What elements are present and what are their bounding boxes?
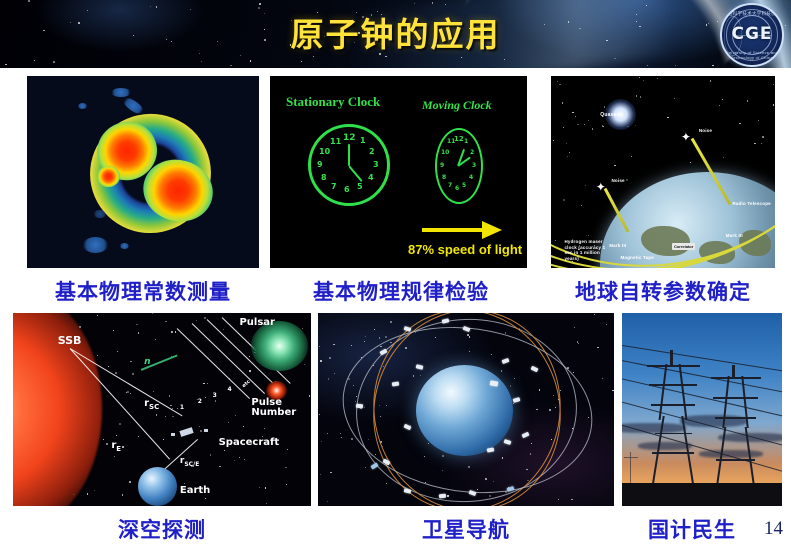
background-source-2 [121,95,145,116]
clock1-minute-hand [348,144,350,166]
pulsar-navigation-diagram: SSB rSC rE rSC/E Spacecraft Earth 1 2 3 … [13,313,311,506]
clock1-hour-hand [348,165,362,182]
panel-6-image-frame [622,313,782,506]
vlbi-diagram: Quasar ✦ ✦ Noise Noise Radio Telescope H… [551,76,775,268]
panel-3-caption: 地球自转参数确定 [540,276,786,306]
velocity-arrow-head [482,221,502,239]
noise-label-right: Noise [699,128,712,133]
pulse-number-2: 2 [198,398,202,405]
panel-4-image-frame: SSB rSC rE rSC/E Spacecraft Earth 1 2 3 … [13,313,311,506]
logo-arc-top-text: 中国科学技术大学科技创新 [722,11,782,17]
ground-silhouette [622,483,782,506]
background-source-5 [78,103,87,109]
tower-left-crossarm-2 [649,384,697,386]
tower-left-brace [652,452,693,454]
panel-1-image-frame [27,76,259,268]
clock2-num-5: 5 [462,182,466,189]
panel-2-caption: 基本物理规律检验 [272,276,530,306]
tower-right-crossarm-3 [715,417,756,419]
noise-flash-right-icon: ✦ [681,130,691,144]
unit-vector-label: n [144,357,150,367]
tower-right-leg-2 [744,427,755,489]
re-subscript: E [116,445,121,453]
moving-clock-label: Moving Clock [422,98,492,113]
clock1-num-3: 3 [373,160,379,169]
tower-left-peak [670,350,673,367]
hydrogen-maser-label: Hydrogen maser clock (accuracy 1 sec in … [564,239,613,262]
clock1-num-9: 9 [317,160,323,169]
background-source-1 [111,88,132,98]
rsc-label: rSC [144,398,159,411]
spacecraft-panel-right [204,429,208,432]
pulse-number-label: Pulse Number [251,398,311,419]
clock2-num-10: 10 [441,149,449,156]
radio-telescope-label: Radio Telescope [732,201,770,206]
moving-clock-face: 12 1 2 3 4 5 6 7 8 9 10 11 [435,128,483,204]
logo-wordmark: CGE [722,24,782,44]
cge-logo: 中国科学技术大学科技创新 CGE University of Science a… [720,3,784,67]
clock1-num-4: 4 [368,173,374,182]
tower-right-crossarm-2 [713,397,759,399]
radio-contour-map [27,76,259,268]
satellite [489,380,498,386]
clock2-num-3: 3 [472,162,476,169]
clock2-num-11: 11 [447,138,455,145]
mark-iii-label-right: Mark III [726,233,743,238]
page-number: 14 [764,518,783,540]
satellite [356,403,363,408]
clock1-num-12: 12 [343,133,356,143]
spacecraft-panel-left [171,433,175,436]
page-title: 原子钟的应用 [0,8,791,56]
earth-label: Earth [180,485,210,496]
tower-left-leg-inner-2 [679,364,688,420]
tower-right-brace [716,459,755,461]
panel-4-caption: 深空探测 [13,514,311,544]
tower-right-leg-inner-1 [722,376,729,428]
pulse-number-1: 1 [180,404,184,411]
re-label: rE [111,440,121,453]
rsce-label: rSC/E [180,456,199,468]
earth-globe [138,467,177,506]
clock1-num-8: 8 [321,173,327,182]
correlator-label: Correlator [672,243,695,250]
slide-header: 原子钟的应用 中国科学技术大学科技创新 CGE University of Sc… [0,0,791,68]
logo-arc-bottom-text: University of Science and Technology of … [722,50,782,60]
clock2-num-7: 7 [448,182,452,189]
pulsar-illustration [251,321,308,371]
pulse-number-3: 3 [213,392,217,399]
background-source-3 [83,237,109,252]
panel-5-image-frame [318,313,614,506]
clock1-num-1: 1 [360,136,366,145]
noise-flash-left-icon: ✦ [596,180,606,194]
satellite [403,488,411,493]
spacecraft-label: Spacecraft [219,437,280,448]
transmission-tower-left [644,350,702,489]
ssb-label: SSB [58,334,82,347]
clock2-num-2: 2 [470,149,474,156]
panel-1-caption: 基本物理常数测量 [10,276,276,306]
slide: 原子钟的应用 中国科学技术大学科技创新 CGE University of Sc… [0,0,791,544]
clock1-num-5: 5 [357,182,363,191]
earth-globe [416,365,514,456]
panel-3-image-frame: Quasar ✦ ✦ Noise Noise Radio Telescope H… [551,76,775,268]
time-dilation-clocks: Stationary Clock Moving Clock 12 1 2 3 4… [270,76,527,268]
contour-hotspot-small [97,166,120,187]
stationary-clock-label: Stationary Clock [286,94,380,110]
magnetic-tape-label: Magnetic Tape [620,255,654,260]
tower-left-crossarm-1 [647,365,700,367]
tower-left-crossarm-3 [651,404,695,406]
clock1-num-7: 7 [331,182,337,191]
clock1-num-10: 10 [319,147,330,156]
clock2-num-12: 12 [454,135,464,143]
tower-left-leg-inner-1 [658,364,667,420]
clock1-num-11: 11 [330,137,341,146]
speed-of-light-label: 87% speed of light [408,242,522,257]
panel-6-caption: 国计民生 [612,514,772,544]
rsc-subscript: SC [149,403,159,411]
clock1-num-2: 2 [369,147,375,156]
tower-left-brace-2 [655,433,692,434]
rsce-subscript: SC/E [184,461,199,468]
panel-5-caption: 卫星导航 [318,514,614,544]
velocity-arrow-line [422,228,484,232]
mark-iii-label-left: Mark III [609,243,626,248]
clock2-num-4: 4 [469,174,473,181]
satellite-constellation [318,313,614,506]
tower-distant-crossarm [624,457,638,458]
pulsar-label: Pulsar [239,317,275,328]
clock2-num-6: 6 [455,185,459,192]
clock2-num-9: 9 [440,162,444,169]
tower-right-leg-inner-2 [742,376,749,428]
background-source-6 [94,210,106,218]
panel-2-image-frame: Stationary Clock Moving Clock 12 1 2 3 4… [270,76,527,268]
stationary-clock-face: 12 1 2 3 4 5 6 7 8 9 10 11 [308,124,390,206]
power-transmission-towers [622,313,782,506]
transmission-tower-right [708,365,762,489]
noise-label-left: Noise [611,178,624,183]
quasar-label: Quasar [600,112,618,118]
transmission-tower-distant [624,452,638,487]
pulse-number-4: 4 [228,386,232,393]
background-source-4 [120,243,129,249]
tower-right-leg-1 [716,427,727,489]
clock1-num-6: 6 [344,185,350,194]
clock2-num-8: 8 [442,174,446,181]
clock2-num-1: 1 [464,138,468,145]
tower-right-crossarm-1 [711,377,761,379]
